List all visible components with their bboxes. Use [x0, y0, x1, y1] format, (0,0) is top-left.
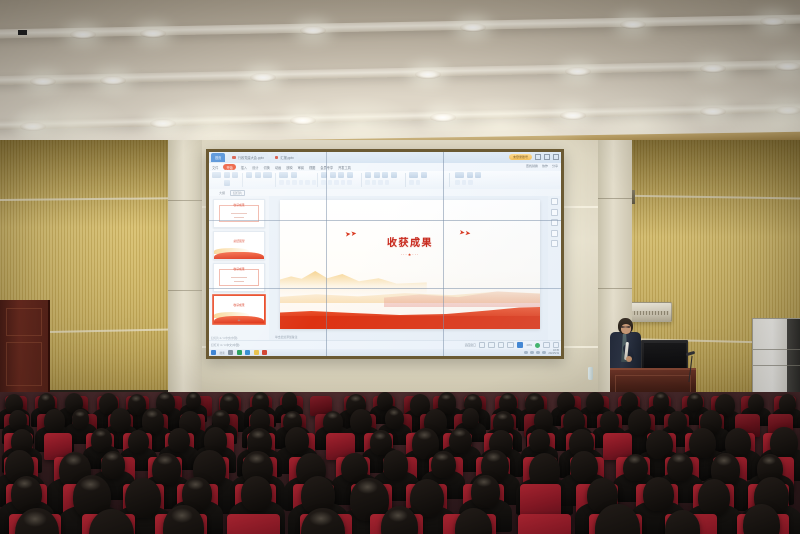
- ceiling-downlight: [460, 23, 486, 32]
- audience-member-head: [646, 430, 672, 459]
- audience-member-head: [110, 408, 131, 431]
- thumbnail-title: 收获成果: [233, 303, 244, 307]
- air-purifier-cabinet: [752, 318, 800, 395]
- hair-highlight: [417, 430, 432, 440]
- more-icon[interactable]: [551, 240, 558, 247]
- ceiling: [0, 0, 800, 152]
- line-spacing-icon[interactable]: [347, 172, 353, 178]
- audience-member-head: [410, 479, 444, 517]
- taskbar-search[interactable]: 搜索: [220, 351, 225, 355]
- ribbon-tab-8[interactable]: 视图: [309, 165, 315, 170]
- status-right-group[interactable]: 适应窗口 40%: [465, 342, 559, 349]
- ceiling-downlight: [760, 17, 786, 26]
- audience-member-head: [462, 408, 480, 428]
- slide-ornament: ···★···: [377, 252, 444, 257]
- strikethrough-icon[interactable]: [299, 180, 304, 185]
- ceiling-downlight: [30, 77, 56, 86]
- ribbon-action-0[interactable]: 查找替换: [526, 164, 538, 168]
- view-slideshow-icon[interactable]: [517, 342, 524, 349]
- hair-highlight: [41, 394, 50, 400]
- audience-member-head: [285, 427, 309, 454]
- replace-icon[interactable]: [409, 180, 414, 185]
- shape-circle-icon[interactable]: [374, 172, 380, 178]
- hair-highlight: [189, 393, 197, 398]
- hair-highlight: [350, 395, 361, 402]
- pptx-file-icon: [275, 156, 279, 160]
- text-direction-icon[interactable]: [347, 180, 352, 185]
- outline-slide-toggle[interactable]: 大纲幻灯片: [209, 189, 561, 196]
- ceiling-downlight: [140, 29, 166, 38]
- login-badge[interactable]: 未登录账号: [509, 154, 532, 160]
- ribbon-tab-2[interactable]: 插入: [241, 165, 247, 170]
- ceiling-downlight: [70, 30, 96, 39]
- audience-member-head: [689, 428, 716, 458]
- hair-highlight: [187, 479, 203, 490]
- view-sorter-icon[interactable]: [488, 342, 495, 349]
- ribbon-tab-strip[interactable]: 文件开始插入设计切换动画放映审阅视图会员专享开发工具: [209, 163, 561, 171]
- clear-format-icon[interactable]: [312, 180, 317, 185]
- ceiling-band-1: [0, 14, 800, 39]
- copy-icon[interactable]: [224, 180, 230, 186]
- ime-icon[interactable]: [542, 351, 546, 355]
- ornament-dots: ···★···: [401, 252, 420, 257]
- auditorium-seat: [518, 514, 570, 534]
- beautify-icon[interactable]: [475, 172, 481, 178]
- audience-member-head: [350, 409, 372, 433]
- settings-icon[interactable]: [553, 342, 560, 349]
- document-tab-0[interactable]: 首页: [211, 153, 225, 162]
- cut-icon[interactable]: [224, 172, 230, 178]
- hair-highlight: [171, 508, 194, 523]
- subbar-item-0[interactable]: 大纲: [219, 191, 225, 195]
- network-icon[interactable]: [524, 351, 528, 355]
- document-tab-1[interactable]: 行政党建大会.pptx: [228, 153, 268, 162]
- document-tab-label: 汇报.pptx: [280, 155, 293, 160]
- edge-icon[interactable]: [237, 350, 242, 355]
- ai-icon[interactable]: [467, 172, 473, 178]
- ceiling-downlight: [565, 67, 591, 76]
- new-slide-icon[interactable]: [246, 172, 252, 178]
- audience-seating: [0, 392, 800, 534]
- auditorium-seat: [227, 514, 279, 534]
- shape-fill-icon[interactable]: [365, 180, 370, 185]
- fullscreen-icon[interactable]: [543, 342, 550, 349]
- audience-member-head: [534, 409, 553, 430]
- ceiling-downlight: [620, 20, 646, 29]
- italic-icon[interactable]: [286, 180, 291, 185]
- ribbon-action-2[interactable]: 分享: [552, 164, 558, 168]
- slide-canvas[interactable]: ➤➤ ➤➤ 收获成果 ···★···: [269, 196, 548, 341]
- battery-icon[interactable]: [536, 351, 540, 355]
- audience-member-head: [383, 450, 409, 479]
- start-icon[interactable]: [211, 350, 216, 355]
- document-tab-label: 首页: [215, 155, 221, 160]
- outdent-icon[interactable]: [341, 180, 346, 185]
- hair-highlight: [486, 452, 501, 462]
- taskbar-tray[interactable]: 18:35 2023/5/19: [524, 350, 559, 355]
- hair-highlight: [16, 478, 33, 489]
- audience-member-head: [529, 429, 550, 452]
- numbering-icon[interactable]: [328, 180, 333, 185]
- font-size-select[interactable]: [291, 172, 297, 178]
- quick-styles-icon[interactable]: [409, 172, 418, 178]
- audience-member-head: [128, 430, 149, 453]
- bold-icon[interactable]: [279, 180, 284, 185]
- hair-highlight: [80, 478, 101, 492]
- view-reading-icon[interactable]: [507, 342, 514, 349]
- hair-highlight: [435, 453, 448, 462]
- hair-highlight: [146, 410, 158, 418]
- subbar-item-1[interactable]: 幻灯片: [230, 190, 245, 196]
- ribbon-tab-6[interactable]: 放映: [286, 165, 292, 170]
- slide-thumbnail-pane[interactable]: 1收获成果2总结展望3收获成果4收获成果 +: [209, 196, 270, 341]
- windows-taskbar[interactable]: 搜索 18:35 2023/5/19: [209, 349, 561, 356]
- audience-member-head: [698, 479, 730, 515]
- settings-icon[interactable]: [551, 198, 558, 205]
- document-tab-2[interactable]: 汇报.pptx: [271, 153, 298, 162]
- status-fit-label[interactable]: 适应窗口: [465, 343, 476, 347]
- shape-outline-icon[interactable]: [372, 180, 377, 185]
- hair-highlight: [157, 455, 173, 465]
- shape-effects-icon[interactable]: [378, 180, 383, 185]
- print-icon[interactable]: [468, 180, 473, 185]
- template-icon[interactable]: [455, 180, 460, 185]
- ribbon-right-actions[interactable]: 查找替换协作分享: [526, 164, 558, 168]
- ribbon-toolbar[interactable]: [209, 171, 561, 190]
- document-tabs[interactable]: 首页行政党建大会.pptx汇报.pptx: [211, 153, 298, 162]
- slide-thumbnail[interactable]: 1收获成果: [213, 199, 265, 228]
- zoom-level-label[interactable]: 40%: [526, 343, 532, 347]
- audience-member-head: [125, 478, 161, 518]
- water-bottle: [588, 367, 593, 380]
- audience-member-head: [628, 409, 651, 435]
- ribbon-tab-3[interactable]: 设计: [252, 165, 258, 170]
- ceiling-downlight: [700, 64, 726, 73]
- taskbar-clock[interactable]: 18:35 2023/5/19: [548, 350, 559, 355]
- audience-member-head: [241, 476, 272, 511]
- find-icon[interactable]: [421, 172, 427, 178]
- task-view-icon[interactable]: [228, 350, 233, 355]
- wechat-icon[interactable]: [245, 350, 250, 355]
- audience-member-head: [668, 411, 687, 432]
- align-center-icon[interactable]: [330, 172, 336, 178]
- layout-icon[interactable]: [255, 172, 261, 178]
- hair-highlight: [389, 409, 399, 416]
- audience-member-head: [779, 394, 796, 413]
- ribbon-tab-10[interactable]: 开发工具: [338, 165, 351, 170]
- arrange-icon[interactable]: [385, 180, 390, 185]
- clock-date: 2023/5/19: [548, 353, 559, 356]
- ceiling-downlight: [775, 62, 800, 71]
- hair-highlight: [75, 411, 85, 417]
- wps-icon[interactable]: [262, 350, 267, 355]
- font-color-icon[interactable]: [305, 180, 310, 185]
- hair-highlight: [286, 412, 297, 419]
- hair-highlight: [357, 480, 378, 494]
- glasses-icon: [621, 326, 630, 328]
- view-normal-icon[interactable]: [479, 342, 486, 349]
- select-icon[interactable]: [416, 180, 421, 185]
- ribbon-tab-4[interactable]: 切换: [264, 165, 270, 170]
- video-wall-frame: 首页行政党建大会.pptx汇报.pptx 未登录账号 文件开始插入设计切换动画放…: [206, 149, 564, 359]
- hair-highlight: [502, 394, 512, 400]
- ceiling-downlight: [100, 76, 126, 85]
- notes-placeholder[interactable]: 单击此处添加备注: [275, 335, 297, 339]
- pptx-file-icon: [232, 156, 236, 160]
- add-slide-button[interactable]: +: [209, 318, 269, 324]
- maximize-icon[interactable]: [544, 154, 550, 160]
- ribbon-tab-1[interactable]: 开始: [223, 164, 235, 170]
- hair-highlight: [716, 455, 732, 466]
- audience-member-head: [44, 409, 66, 433]
- hair-highlight: [248, 453, 265, 464]
- audience-member-head: [770, 427, 797, 458]
- ribbon-tab-5[interactable]: 动画: [275, 165, 281, 170]
- video-wall-screen[interactable]: 首页行政党建大会.pptx汇报.pptx 未登录账号 文件开始插入设计切换动画放…: [209, 152, 561, 356]
- audience-member-head: [600, 411, 619, 432]
- hair-highlight: [374, 432, 386, 440]
- audience-member-head: [9, 410, 26, 430]
- ribbon-action-1[interactable]: 协作: [542, 164, 548, 168]
- audience-member-head: [643, 477, 674, 512]
- shape-line-icon[interactable]: [391, 172, 397, 178]
- minimize-icon[interactable]: [535, 154, 541, 160]
- wooden-door[interactable]: [0, 300, 50, 392]
- thumbnail-title: 总结展望: [233, 239, 244, 243]
- taskbar-pinned-icons[interactable]: 搜索: [211, 350, 267, 355]
- ribbon-tab-7[interactable]: 审阅: [298, 165, 304, 170]
- paste-icon[interactable]: [212, 172, 221, 178]
- slide-title[interactable]: 收获成果: [280, 234, 540, 249]
- underline-icon[interactable]: [292, 180, 297, 185]
- indent-icon[interactable]: [334, 180, 339, 185]
- hair-highlight: [23, 511, 47, 527]
- view-notes-icon[interactable]: [498, 342, 505, 349]
- smart-layout-icon[interactable]: [455, 172, 464, 178]
- ceiling-downlight: [415, 70, 441, 79]
- shapes-icon[interactable]: [551, 209, 558, 216]
- chart-icon[interactable]: [551, 230, 558, 237]
- shape-rect-icon[interactable]: [365, 172, 371, 178]
- folder-icon[interactable]: [254, 350, 259, 355]
- wps-presentation-app: 首页行政党建大会.pptx汇报.pptx 未登录账号 文件开始插入设计切换动画放…: [209, 152, 561, 356]
- audience-member-head: [748, 394, 764, 412]
- hair-highlight: [690, 394, 699, 400]
- align-right-icon[interactable]: [338, 172, 344, 178]
- right-tool-rail[interactable]: [550, 198, 559, 247]
- hair-highlight: [131, 395, 141, 402]
- bullets-icon[interactable]: [321, 180, 326, 185]
- status-left-text: 幻灯片 4 / 4 中文(中国): [211, 343, 239, 347]
- format-painter-icon[interactable]: [232, 172, 238, 178]
- ribbon-tab-0[interactable]: 文件: [212, 165, 218, 170]
- audience-member-head: [586, 392, 604, 412]
- audience-member-head: [570, 451, 598, 482]
- auditorium-scene: 首页行政党建大会.pptx汇报.pptx 未登录账号 文件开始插入设计切换动画放…: [0, 0, 800, 534]
- ceiling-downlight: [250, 73, 276, 82]
- thumbnail-title: 收获成果: [233, 203, 244, 207]
- ceiling-downlight: [300, 26, 326, 35]
- app-titlebar: 首页行政党建大会.pptx汇报.pptx 未登录账号: [209, 152, 561, 163]
- left-pillar: [168, 140, 202, 392]
- present-online-icon[interactable]: [535, 343, 540, 348]
- hair-highlight: [65, 454, 83, 466]
- thumbnail-title: 收获成果: [233, 267, 244, 271]
- audience-member-head: [621, 392, 638, 411]
- font-family-select[interactable]: [279, 172, 288, 178]
- slide-thumbnail[interactable]: 2总结展望: [213, 231, 265, 260]
- document-tab-label: 行政党建大会.pptx: [238, 155, 264, 160]
- audience-member-head: [168, 428, 190, 452]
- hair-highlight: [388, 509, 408, 522]
- volume-icon[interactable]: [530, 351, 534, 355]
- window-controls[interactable]: 未登录账号: [509, 154, 559, 160]
- audience-member-head: [282, 392, 297, 409]
- status-bar[interactable]: 幻灯片 4 / 4 中文(中国) 适应窗口 40%: [209, 340, 561, 349]
- close-icon[interactable]: [553, 154, 559, 160]
- export-icon[interactable]: [462, 180, 467, 185]
- shape-arrow-icon[interactable]: [382, 172, 388, 178]
- hair-highlight: [251, 430, 265, 439]
- hair-highlight: [223, 395, 234, 402]
- slide-red-base-decor: [280, 316, 540, 329]
- section-icon[interactable]: [263, 172, 272, 178]
